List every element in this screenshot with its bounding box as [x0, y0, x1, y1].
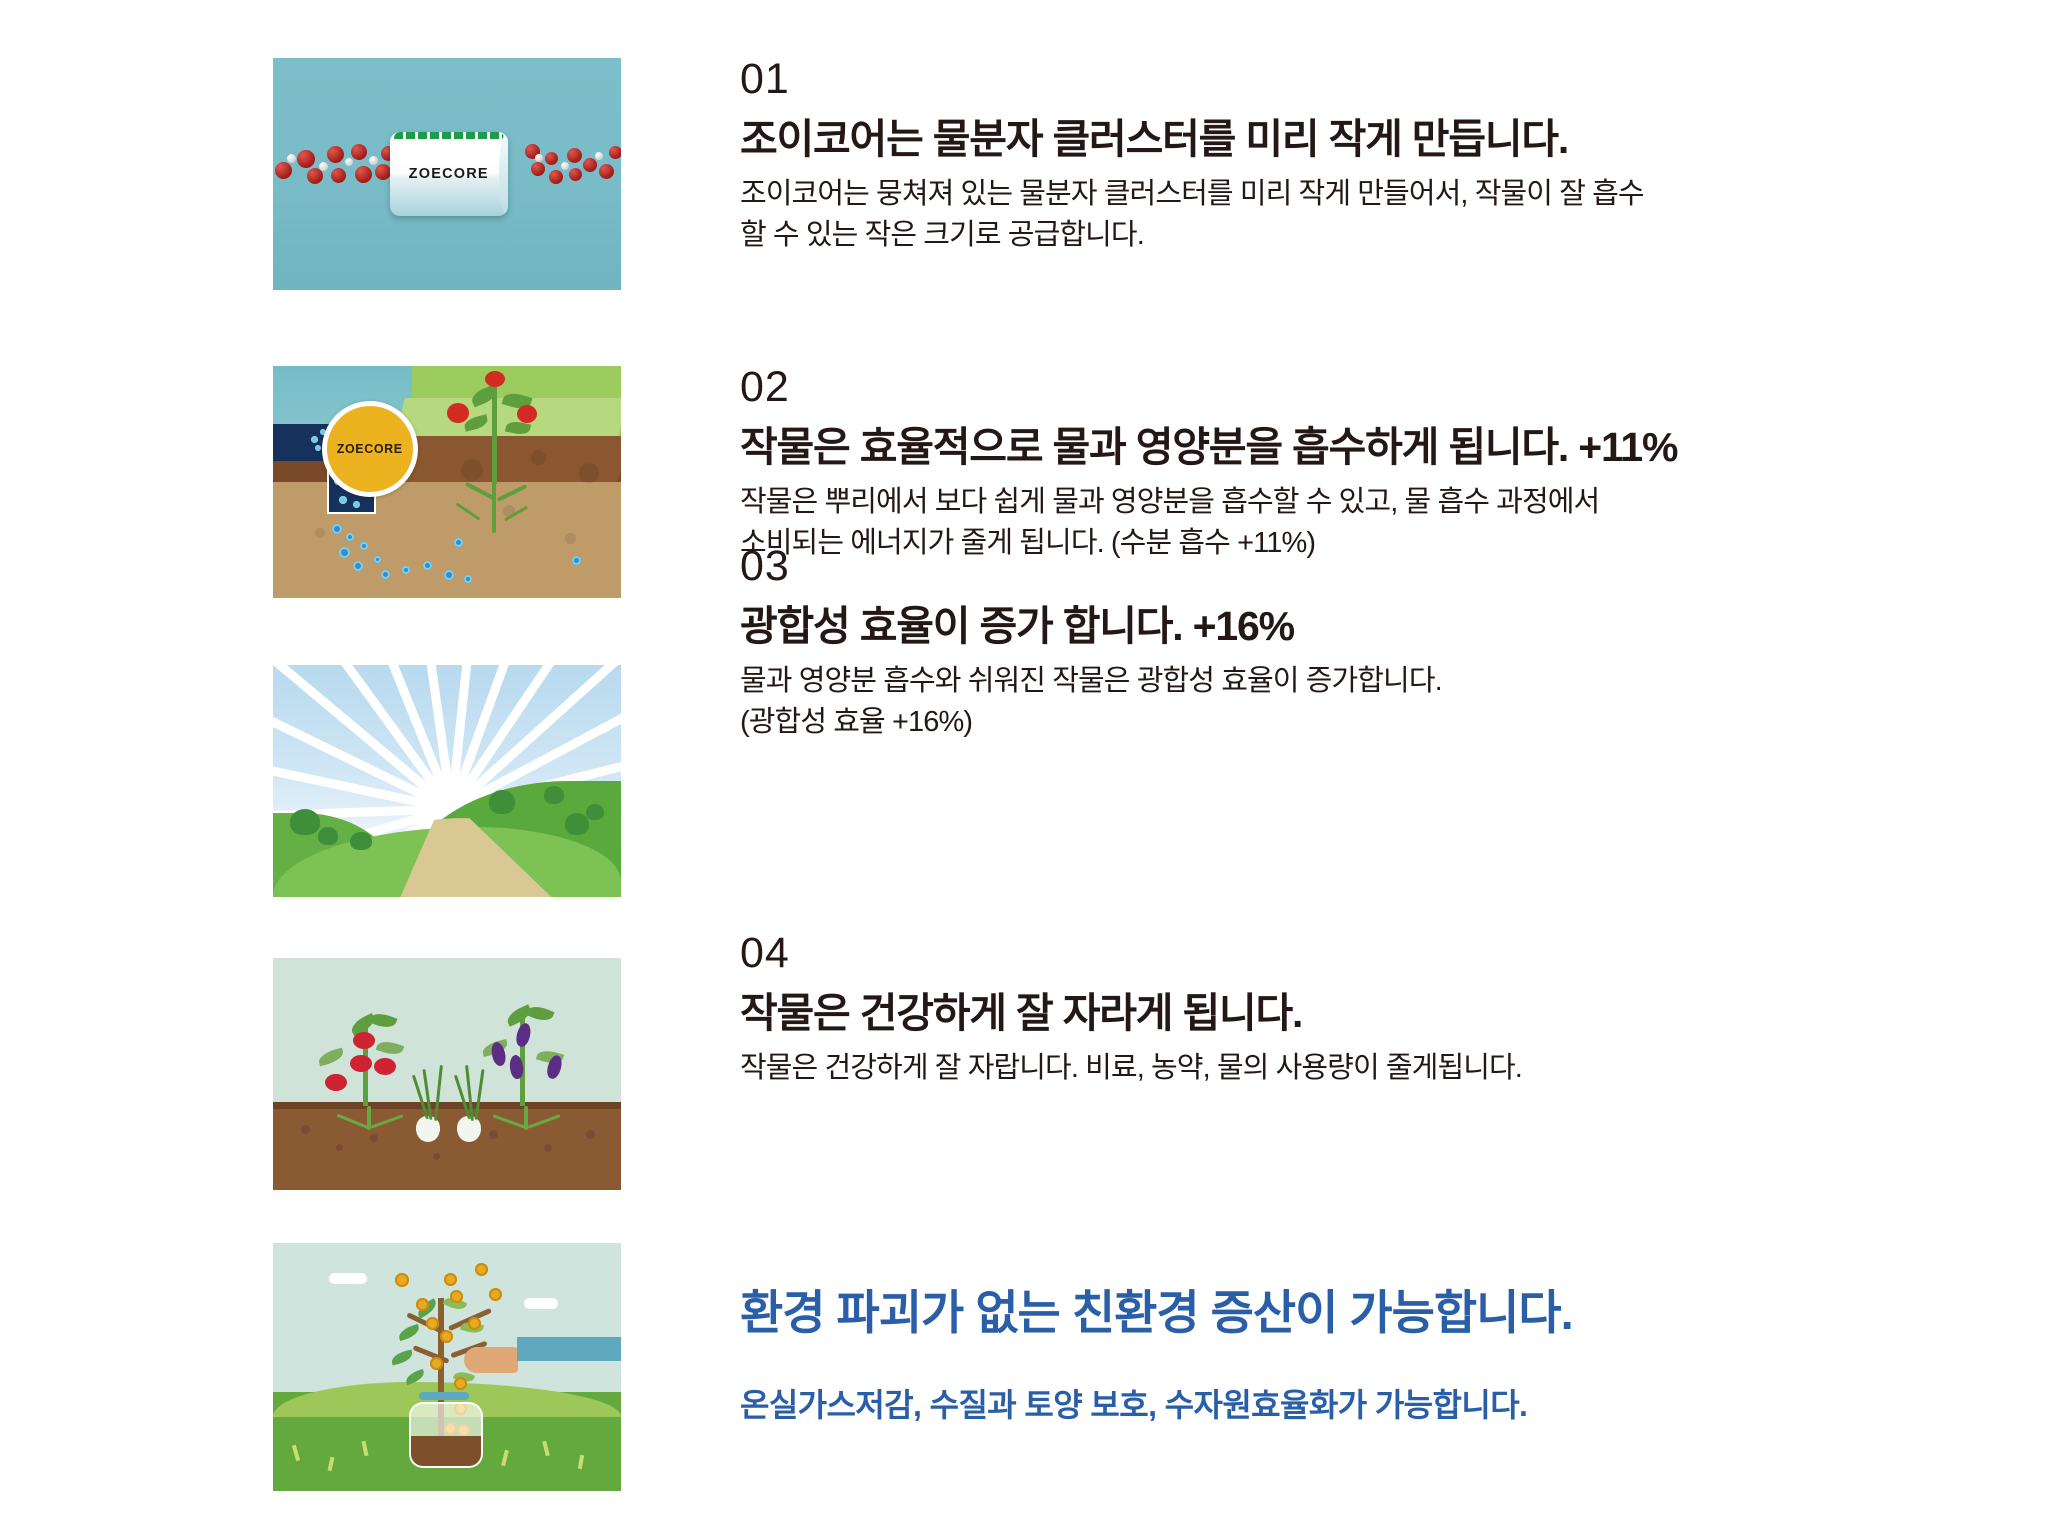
- step-04-title: 작물은 건강하게 잘 자라게 됩니다.: [740, 988, 2030, 1038]
- step-02-copy: 02 작물은 효율적으로 물과 영양분을 흡수하게 됩니다. +11% 작물은 …: [740, 366, 2030, 564]
- step-01-body: 조이코어는 뭉쳐져 있는 물분자 클러스터를 미리 작게 만들어서, 작물이 잘…: [740, 174, 2030, 256]
- step-02-title: 작물은 효율적으로 물과 영양분을 흡수하게 됩니다. +11%: [740, 422, 2030, 472]
- step-01-title: 조이코어는 물분자 클러스터를 미리 작게 만듭니다.: [740, 114, 2030, 164]
- step-01-number: 01: [740, 58, 2030, 101]
- step-02-body-line-1: 작물은 뿌리에서 보다 쉽게 물과 영양분을 흡수할 수 있고, 물 흡수 과정…: [740, 482, 2030, 523]
- step-03-body-line-2: (광합성 효율 +16%): [740, 702, 2030, 743]
- infographic-page: ZOECORE 01 조이코어는 물분자 클러스터를 미리 작게 만듭니다. 조…: [0, 0, 2048, 1536]
- zoecore-badge: ZOECORE: [322, 401, 418, 497]
- step-03-body: 물과 영양분 흡수와 쉬워진 작물은 광합성 효율이 증가합니다. (광합성 효…: [740, 661, 2030, 743]
- footer-subline: 온실가스저감, 수질과 토양 보호, 수자원효율화가 가능합니다.: [740, 1385, 2030, 1427]
- step-03-image: [273, 665, 621, 897]
- step-03-number: 03: [740, 545, 2030, 588]
- zoecore-label: ZOECORE: [409, 166, 489, 182]
- step-03-copy: 03 광합성 효율이 증가 합니다. +16% 물과 영양분 흡수와 쉬워진 작…: [740, 545, 2030, 743]
- step-04-copy: 04 작물은 건강하게 잘 자라게 됩니다. 작물은 건강하게 잘 자랍니다. …: [740, 932, 2030, 1089]
- zoecore-badge-label: ZOECORE: [337, 442, 403, 456]
- step-02-number: 02: [740, 366, 2030, 409]
- step-04-number: 04: [740, 932, 2030, 975]
- footer-headline: 환경 파괴가 없는 친환경 증산이 가능합니다.: [740, 1285, 2030, 1341]
- step-04-image: [273, 958, 621, 1190]
- step-04-body-line-1: 작물은 건강하게 잘 자랍니다. 비료, 농약, 물의 사용량이 줄게됩니다.: [740, 1048, 2030, 1089]
- step-04-body: 작물은 건강하게 잘 자랍니다. 비료, 농약, 물의 사용량이 줄게됩니다.: [740, 1048, 2030, 1089]
- footer-image: [273, 1243, 621, 1491]
- hand-icon: [464, 1347, 518, 1373]
- step-03-title: 광합성 효율이 증가 합니다. +16%: [740, 601, 2030, 651]
- step-03-body-line-1: 물과 영양분 흡수와 쉬워진 작물은 광합성 효율이 증가합니다.: [740, 661, 2030, 702]
- step-02-image: ZOECORE: [273, 366, 621, 598]
- step-01-copy: 01 조이코어는 물분자 클러스터를 미리 작게 만듭니다. 조이코어는 뭉쳐져…: [740, 58, 2030, 256]
- step-01-body-line-1: 조이코어는 뭉쳐져 있는 물분자 클러스터를 미리 작게 만들어서, 작물이 잘…: [740, 174, 2030, 215]
- step-01-image: ZOECORE: [273, 58, 621, 290]
- step-01-body-line-2: 할 수 있는 작은 크기로 공급합니다.: [740, 215, 2030, 256]
- money-jar: [409, 1402, 483, 1468]
- footer-copy: 환경 파괴가 없는 친환경 증산이 가능합니다. 온실가스저감, 수질과 토양 …: [740, 1285, 2030, 1427]
- zoecore-cylinder: ZOECORE: [390, 132, 508, 216]
